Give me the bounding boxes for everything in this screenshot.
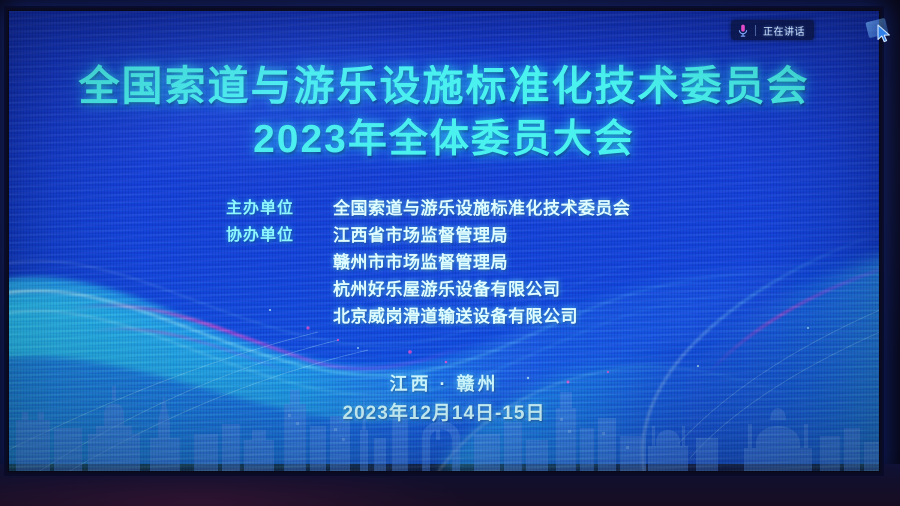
organizer-value: 杭州好乐屋游乐设备有限公司 bbox=[333, 275, 561, 300]
organizer-value: 江西省市场监督管理局 bbox=[333, 221, 508, 246]
organizer-label: 协办单位 bbox=[226, 221, 336, 245]
led-display-screen: 全国索道与游乐设施标准化技术委员会 2023年全体委员大会 主办单位 全国索道与… bbox=[8, 10, 880, 472]
organizer-value: 北京威岗滑道输送设备有限公司 bbox=[333, 302, 578, 327]
organizer-list: 主办单位 全国索道与游乐设施标准化技术委员会 协办单位 江西省市场监督管理局 赣… bbox=[8, 194, 880, 329]
organizer-value: 赣州市市场监督管理局 bbox=[333, 248, 508, 273]
organizer-row: 北京威岗滑道输送设备有限公司 bbox=[8, 302, 880, 329]
organizer-row: 协办单位 江西省市场监督管理局 bbox=[8, 221, 880, 248]
screenshot-root: 全国索道与游乐设施标准化技术委员会 2023年全体委员大会 主办单位 全国索道与… bbox=[0, 0, 900, 506]
event-dates: 2023年12月14日-15日 bbox=[8, 398, 880, 425]
organizer-row: 主办单位 全国索道与游乐设施标准化技术委员会 bbox=[8, 194, 880, 221]
organizer-row: 杭州好乐屋游乐设备有限公司 bbox=[8, 275, 880, 302]
speaking-status-badge[interactable]: 正在讲话 bbox=[731, 20, 814, 40]
page-title: 全国索道与游乐设施标准化技术委员会 bbox=[8, 52, 880, 112]
mouse-pointer-icon bbox=[877, 24, 893, 44]
slide-content: 全国索道与游乐设施标准化技术委员会 2023年全体委员大会 主办单位 全国索道与… bbox=[8, 10, 880, 472]
speaking-status-label: 正在讲话 bbox=[763, 23, 805, 38]
venue-location: 江西 · 赣州 bbox=[8, 370, 880, 396]
organizer-label: 主办单位 bbox=[226, 194, 336, 218]
organizer-row: 赣州市市场监督管理局 bbox=[8, 248, 880, 275]
organizer-value: 全国索道与游乐设施标准化技术委员会 bbox=[333, 194, 631, 219]
microphone-icon bbox=[738, 24, 748, 37]
page-subtitle: 2023年全体委员大会 bbox=[8, 108, 880, 164]
badge-divider bbox=[755, 25, 756, 36]
